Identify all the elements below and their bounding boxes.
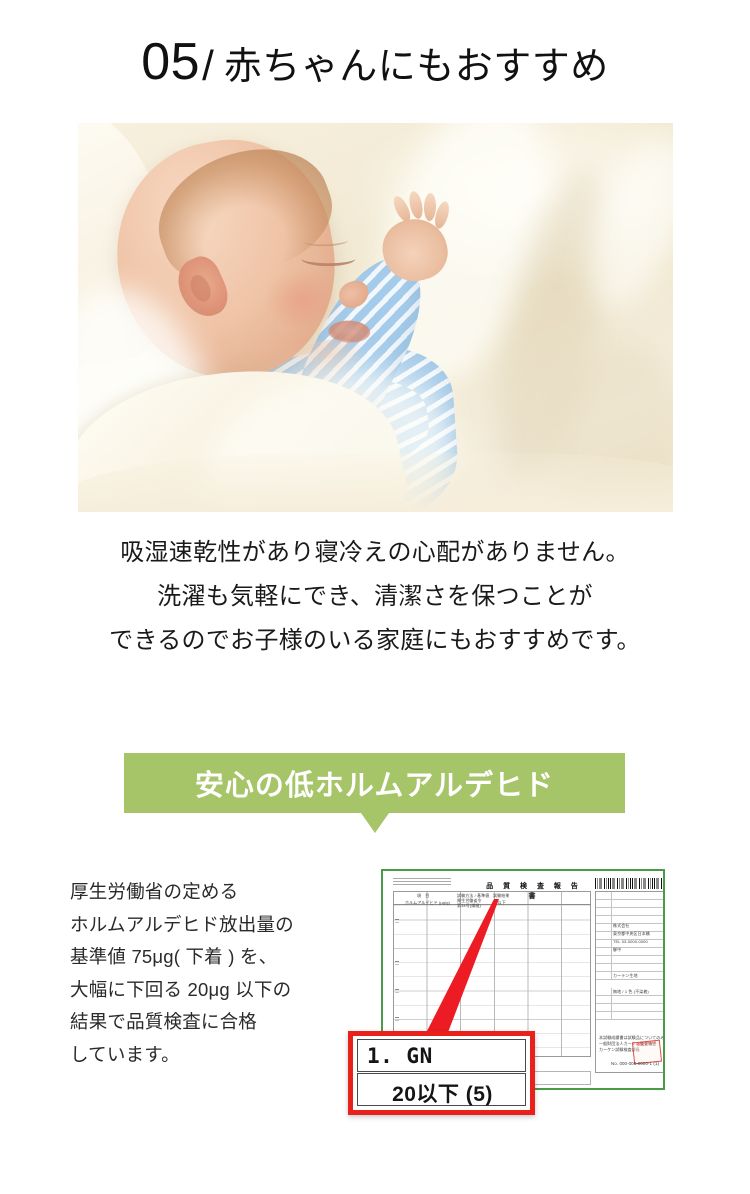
blanket-bottom <box>78 453 673 512</box>
lead-paragraph: 吸湿速乾性があり寝冷えの心配がありません。 洗濯も気軽にでき、清潔さを保つことが… <box>0 531 750 663</box>
desc-line-5: 結果で品質検査に合格 <box>70 1006 370 1039</box>
callout-sample-code: 1. GN <box>367 1044 433 1068</box>
section-heading: 05 / 赤ちゃんにもおすすめ <box>0 36 750 88</box>
lead-line-2: 洗濯も気軽にでき、清潔さを保つことが <box>0 575 750 619</box>
formaldehyde-description: 厚生労働省の定める ホルムアルデヒド放出量の 基準値 75μg( 下着 ) を、… <box>70 876 370 1071</box>
product-detail-page: 05 / 赤ちゃんにもおすすめ <box>0 0 750 1194</box>
callout-row-label: 1. GN <box>357 1039 526 1072</box>
test-result-callout: 1. GN 20以下 (5) <box>348 1031 535 1115</box>
baby-closed-eye <box>301 251 355 266</box>
heading-separator: / <box>202 45 214 87</box>
lead-line-3: できるのでお子様のいる家庭にもおすすめです。 <box>0 619 750 663</box>
lead-line-1: 吸湿速乾性があり寝冷えの心配がありません。 <box>0 531 750 575</box>
low-formaldehyde-banner: 安心の低ホルムアルデヒド <box>124 753 625 813</box>
baby-photo <box>78 123 673 512</box>
desc-line-2: ホルムアルデヒド放出量の <box>70 909 370 942</box>
desc-line-1: 厚生労働省の定める <box>70 876 370 909</box>
banner-label: 安心の低ホルムアルデヒド <box>195 762 554 804</box>
banner-arrow-icon <box>361 813 389 833</box>
desc-line-4: 大幅に下回る 20μg 以下の <box>70 974 370 1007</box>
desc-line-6: しています。 <box>70 1039 370 1072</box>
callout-result-value: 20以下 (5) <box>358 1078 527 1108</box>
page-title: 赤ちゃんにもおすすめ <box>224 48 609 86</box>
desc-line-3: 基準値 75μg( 下着 ) を、 <box>70 941 370 974</box>
callout-row-value: 20以下 (5) <box>357 1073 526 1106</box>
section-number: 05 <box>141 36 200 88</box>
